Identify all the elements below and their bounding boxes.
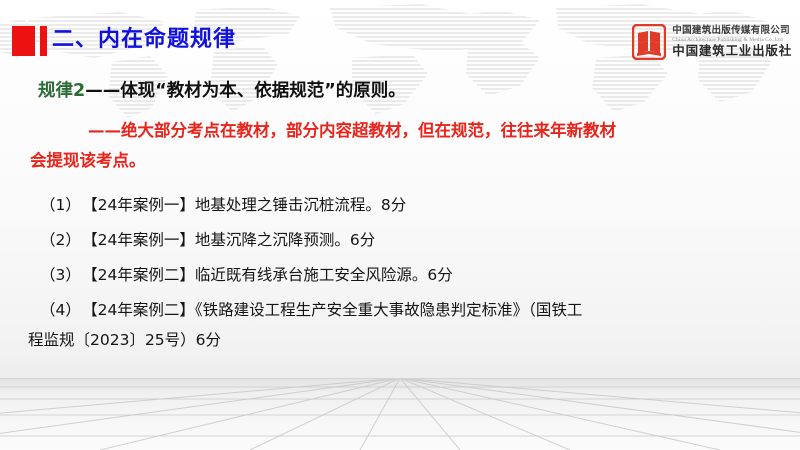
list-item-index: （4）	[40, 301, 81, 319]
slide-header: 二、内在命题规律 中国建筑出版传媒有限公司 China Architecture…	[0, 0, 800, 72]
open-book-emblem-icon	[632, 24, 666, 60]
header-accent-block-wide	[12, 26, 35, 56]
list-item-index: （3）	[40, 266, 81, 284]
rule-heading: 规律2——体现“教材为本、依据规范”的原则。	[38, 78, 406, 104]
publisher-logo: 中国建筑出版传媒有限公司 China Architecture Publishi…	[632, 24, 792, 60]
list-item-label: 【24年案例一】地基沉降之沉降预测。6分	[90, 231, 375, 249]
floor-decoration	[0, 378, 800, 450]
list-item: （2）【24年案例一】地基沉降之沉降预测。6分	[40, 229, 375, 251]
list-item-label: 【24年案例二】临近既有线承台施工安全风险源。6分	[90, 266, 453, 284]
list-item-index: （2）	[40, 231, 81, 249]
list-item-label: 【24年案例一】地基处理之锤击沉桩流程。8分	[90, 196, 406, 214]
list-item: （3）【24年案例二】临近既有线承台施工安全风险源。6分	[40, 264, 453, 286]
publisher-imprint-cn: 中国建筑工业出版社	[672, 45, 792, 58]
publisher-logo-text: 中国建筑出版传媒有限公司 China Architecture Publishi…	[672, 26, 792, 58]
list-item-label: 【24年案例二】《铁路建设工程生产安全重大事故隐患判定标准》（国铁工	[90, 301, 582, 319]
header-accent-block-thin	[40, 26, 47, 56]
publisher-company-en: China Architecture Publishing & Media Co…	[672, 38, 792, 43]
publisher-company-cn: 中国建筑出版传媒有限公司	[672, 26, 792, 36]
note-line-1: ——绝大部分考点在教材，部分内容超教材，但在规范，往往来年新教材	[88, 118, 616, 143]
rule-heading-text: ——体现“教材为本、依据规范”的原则。	[85, 81, 406, 101]
floor-grid	[0, 378, 800, 450]
floor-horizon-line	[0, 378, 800, 379]
list-item-index: （1）	[40, 196, 81, 214]
list-item: （4）【24年案例二】《铁路建设工程生产安全重大事故隐患判定标准》（国铁工	[40, 299, 582, 321]
page-title: 二、内在命题规律	[52, 24, 236, 56]
list-item-continuation: 程监规〔2023〕25号）6分	[28, 329, 221, 351]
list-item: （1）【24年案例一】地基处理之锤击沉桩流程。8分	[40, 194, 406, 216]
rule-label: 规律2	[38, 81, 85, 101]
note-line-2: 会提现该考点。	[30, 148, 146, 173]
slide-canvas: 二、内在命题规律 中国建筑出版传媒有限公司 China Architecture…	[0, 0, 800, 450]
